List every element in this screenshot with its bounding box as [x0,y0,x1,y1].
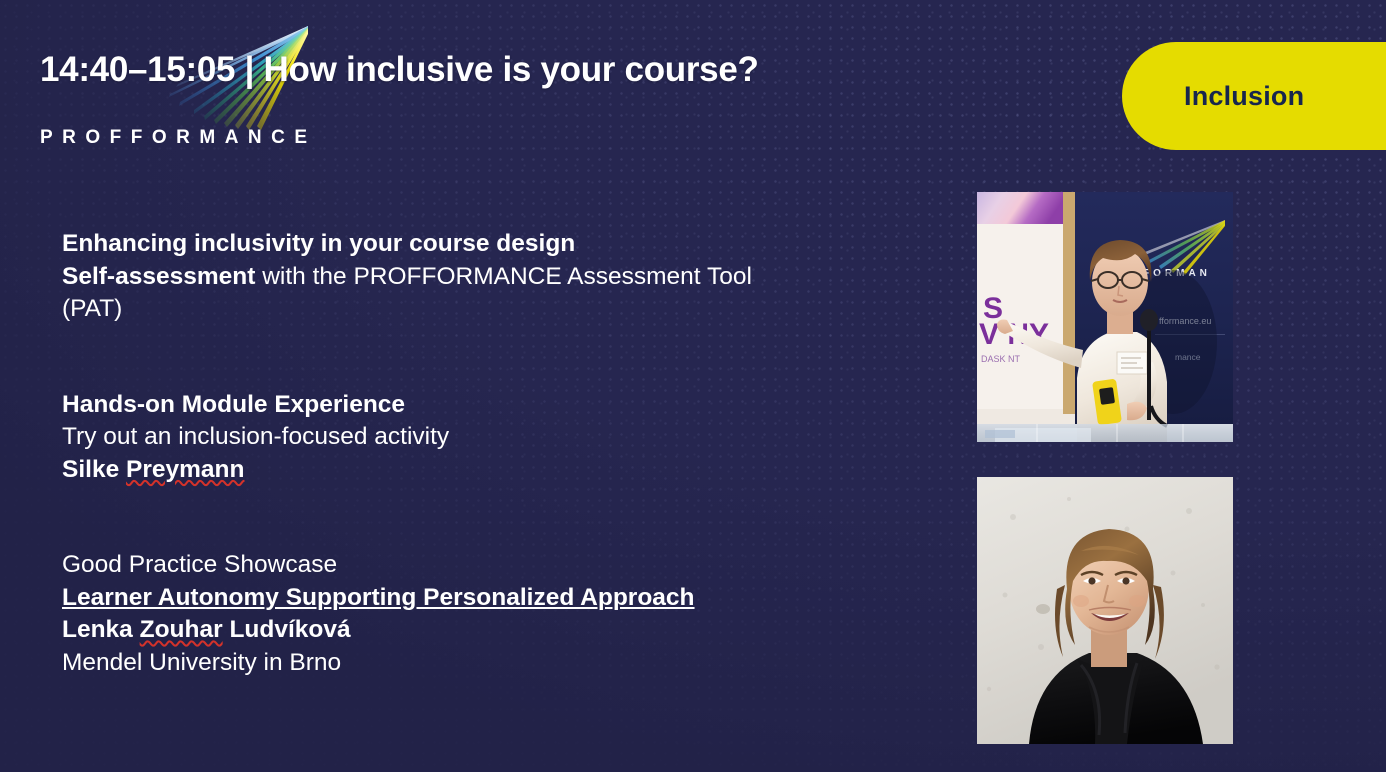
presenter-name: Lenka Zouhar Ludvíková [62,614,892,647]
presentation-slide: 14:40–15:05 | How inclusive is your cour… [0,0,1386,772]
content-block-hands-on: Hands-on Module Experience Try out an in… [62,389,892,487]
content-line: Try out an inclusion-focused activity [62,421,892,454]
content-block-self-assessment: Enhancing inclusivity in your course des… [62,228,892,326]
content-block-good-practice: Good Practice Showcase Learner Autonomy … [62,549,892,679]
content-line: Self-assessment with the PROFFORMANCE As… [62,261,892,294]
presenter-name: Silke Preymann [62,454,892,487]
presenter-middle-name: Zouhar [140,616,223,643]
category-badge: Inclusion [1122,42,1386,150]
profformance-wordmark: PROFFORMANCE [40,127,317,149]
category-badge-label: Inclusion [1184,81,1304,112]
presenter-last-name: Preymann [126,456,244,483]
content-line-lead: Self-assessment [62,263,255,290]
svg-text:DASK NT: DASK NT [981,354,1021,364]
presenter-first-name: Silke [62,456,126,483]
good-practice-title: Learner Autonomy Supporting Personalized… [62,582,892,615]
session-content: Enhancing inclusivity in your course des… [62,228,892,679]
presenter-affiliation: Mendel University in Brno [62,647,892,680]
content-line: Hands-on Module Experience [62,389,892,422]
photo-speaker-at-podium: S V NY DASK NT FORMAN fformance.eu mance [977,192,1233,442]
content-line-text: with the PROFFORMANCE Assessment Tool [255,263,752,290]
slide-title: 14:40–15:05 | How inclusive is your cour… [40,52,759,87]
content-line: (PAT) [62,293,892,326]
content-line: Good Practice Showcase [62,549,892,582]
presenter-first-name: Lenka [62,616,140,643]
presenter-last-name: Ludvíková [223,616,351,643]
photo-speaker-portrait [977,477,1233,744]
content-line: Enhancing inclusivity in your course des… [62,228,892,261]
